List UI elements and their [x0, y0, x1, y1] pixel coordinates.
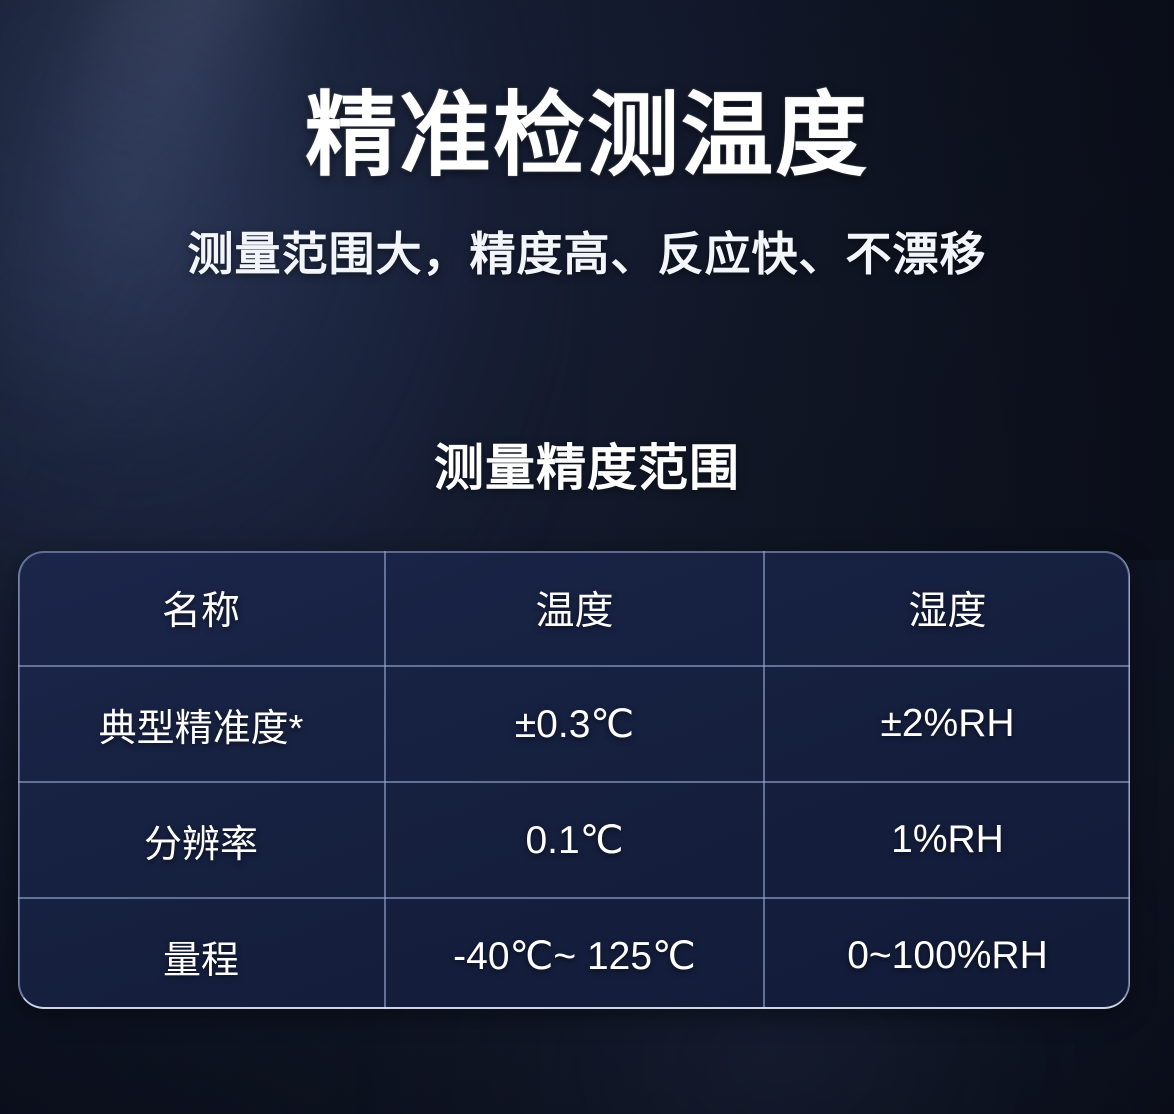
table-header-row: 名称 温度 湿度: [18, 551, 1130, 666]
column-header-name: 名称: [18, 551, 385, 666]
cell-temperature: -40℃~ 125℃: [385, 898, 764, 1009]
cell-humidity: 1%RH: [764, 782, 1130, 898]
column-header-humidity: 湿度: [764, 551, 1130, 666]
page-title: 精准检测温度: [0, 88, 1174, 185]
table-row: 典型精准度* ±0.3℃ ±2%RH: [18, 666, 1130, 782]
page-subtitle: 测量范围大，精度高、反应快、不漂移: [0, 218, 1174, 284]
spec-table: 名称 温度 湿度 典型精准度* ±0.3℃ ±2%RH 分辨率 0.1℃ 1%R…: [18, 551, 1130, 1009]
cell-name: 典型精准度*: [18, 666, 385, 782]
spec-table-container: 名称 温度 湿度 典型精准度* ±0.3℃ ±2%RH 分辨率 0.1℃ 1%R…: [18, 551, 1130, 1009]
section-heading-measurement-accuracy: 测量精度范围: [0, 428, 1174, 500]
cell-humidity: ±2%RH: [764, 666, 1130, 782]
promo-page: 精准检测温度 测量范围大，精度高、反应快、不漂移 测量精度范围 名称 温度 湿度: [0, 0, 1174, 1114]
column-header-temperature: 温度: [385, 551, 764, 666]
cell-name: 量程: [18, 898, 385, 1009]
cell-humidity: 0~100%RH: [764, 898, 1130, 1009]
cell-temperature: ±0.3℃: [385, 666, 764, 782]
cell-name: 分辨率: [18, 782, 385, 898]
table-row: 量程 -40℃~ 125℃ 0~100%RH: [18, 898, 1130, 1009]
table-row: 分辨率 0.1℃ 1%RH: [18, 782, 1130, 898]
page-content: 精准检测温度 测量范围大，精度高、反应快、不漂移 测量精度范围 名称 温度 湿度: [0, 0, 1174, 1114]
cell-temperature: 0.1℃: [385, 782, 764, 898]
